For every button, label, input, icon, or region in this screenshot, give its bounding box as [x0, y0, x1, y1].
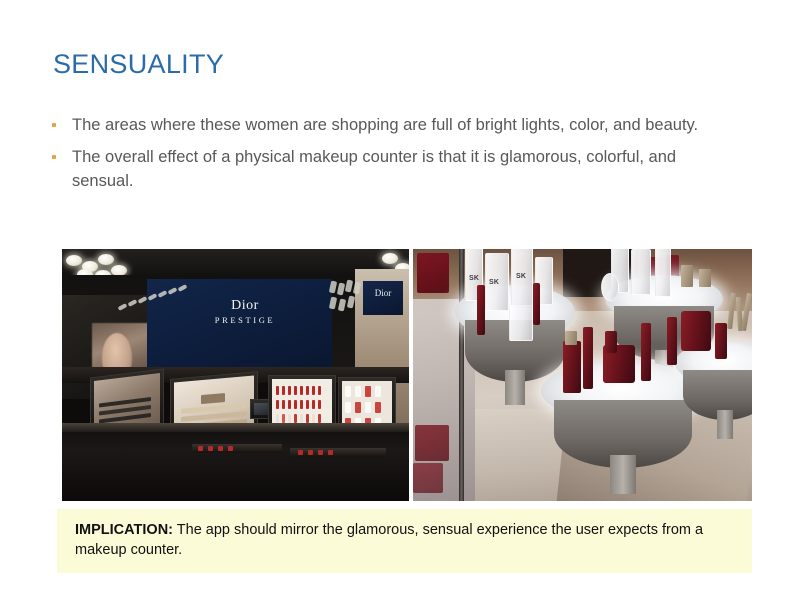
adjacent-brand-sign-label: Dior: [363, 288, 403, 298]
implication-text: IMPLICATION: The app should mirror the g…: [75, 521, 734, 560]
photo-row: Dior Dior PRESTIGE: [62, 249, 752, 501]
product-bottle: [715, 323, 727, 359]
product-bottle: [583, 327, 593, 389]
dior-logo-text: Dior: [190, 299, 300, 313]
dior-sub-text: PRESTIGE: [190, 315, 300, 325]
product-jar: [681, 311, 711, 351]
red-packaging: [413, 463, 443, 493]
ceiling-spotlight: [98, 254, 114, 265]
bullet-text: The areas where these women are shopping…: [72, 116, 698, 134]
product-bottle: [655, 249, 671, 297]
implication-label: IMPLICATION:: [75, 522, 173, 538]
bullet-dot-icon: [52, 155, 56, 159]
product-bottle: [477, 285, 485, 335]
counter-front: [62, 423, 409, 501]
counter-tray: [192, 444, 282, 453]
bullet-dot-icon: [52, 123, 56, 127]
ceiling-spotlight: [66, 255, 82, 266]
ceiling-spotlight: [382, 253, 398, 264]
slide-canvas: SENSUALITY The areas where these women a…: [0, 0, 804, 603]
product-bottle: [533, 283, 540, 325]
product-bottle: [605, 331, 617, 353]
skii-label: SK: [489, 279, 499, 286]
product-bottle: [509, 305, 533, 341]
skii-label: SK: [516, 273, 526, 280]
dior-sign-panel: [147, 279, 332, 371]
bullet-text: The overall effect of a physical makeup …: [72, 148, 676, 189]
page-title: SENSUALITY: [53, 50, 224, 80]
product-bottle: [667, 317, 677, 365]
red-packaging: [417, 253, 449, 293]
product-cap: [565, 331, 577, 345]
product-cap: [699, 269, 711, 287]
product-cap: [681, 265, 693, 287]
product-bottle: [641, 323, 651, 381]
list-item: The overall effect of a physical makeup …: [50, 146, 740, 193]
adjacent-brand-sign: Dior: [363, 281, 403, 315]
photo-dior-counter: Dior Dior PRESTIGE: [62, 249, 409, 501]
counter-tray: [290, 448, 386, 457]
product-bottle: [563, 341, 581, 393]
product-bottle: [631, 249, 651, 295]
illuminated-pedestal: [675, 341, 752, 437]
skii-label: SK: [469, 275, 479, 282]
photo-skii-counter: SK SK SK: [413, 249, 752, 501]
list-item: The areas where these women are shopping…: [50, 114, 740, 137]
implication-callout: IMPLICATION: The app should mirror the g…: [57, 509, 752, 573]
bullet-list: The areas where these women are shopping…: [50, 114, 740, 202]
dior-logo: Dior PRESTIGE: [190, 299, 300, 325]
product-compact: [601, 273, 619, 301]
red-packaging: [415, 425, 449, 461]
